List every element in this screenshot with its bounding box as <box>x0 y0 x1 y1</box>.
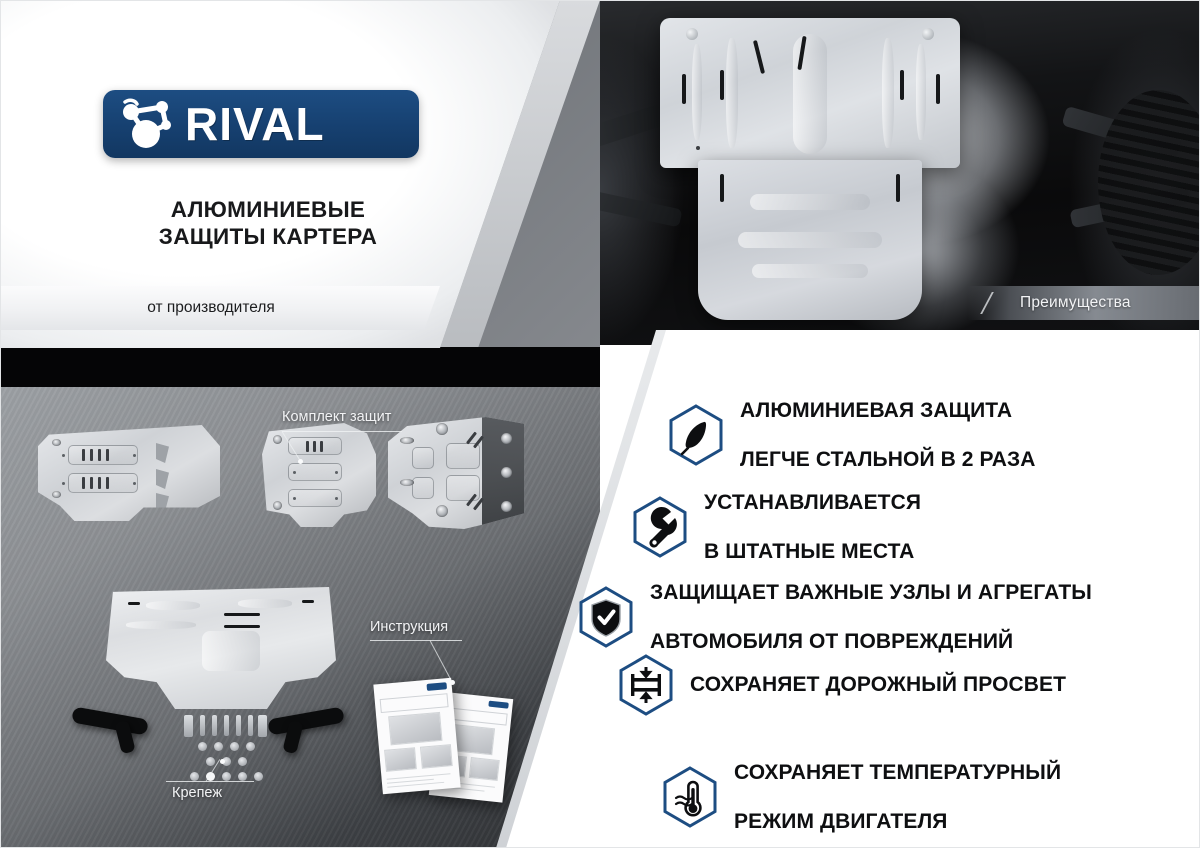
feature-list: АЛЮМИНИЕВАЯ ЗАЩИТА ЛЕГЧЕ СТАЛЬНОЙ В 2 РА… <box>0 0 1200 848</box>
feature-text-4: СОХРАНЯЕТ ДОРОЖНЫЙ ПРОСВЕТ <box>690 648 1066 722</box>
feature-item-5[interactable]: СОХРАНЯЕТ ТЕМПЕРАТУРНЫЙ РЕЖИМ ДВИГАТЕЛЯ <box>662 736 1061 848</box>
shield-check-icon <box>578 586 634 648</box>
feature-1-line1: АЛЮМИНИЕВАЯ ЗАЩИТА <box>740 399 1036 424</box>
feature-text-5: СОХРАНЯЕТ ТЕМПЕРАТУРНЫЙ РЕЖИМ ДВИГАТЕЛЯ <box>734 736 1061 848</box>
thermometer-icon <box>662 766 718 828</box>
feature-2-line1: УСТАНАВЛИВАЕТСЯ <box>704 491 921 516</box>
feature-3-line1: ЗАЩИЩАЕТ ВАЖНЫЕ УЗЛЫ И АГРЕГАТЫ <box>650 581 1092 606</box>
feature-5-line2: РЕЖИМ ДВИГАТЕЛЯ <box>734 810 1061 835</box>
promo-banner: Преимущества RIVAL АЛЮМИНИЕВЫЕ ЗАЩИТЫ КА… <box>0 0 1200 848</box>
feather-icon <box>668 404 724 466</box>
feature-5-line1: СОХРАНЯЕТ ТЕМПЕРАТУРНЫЙ <box>734 761 1061 786</box>
feature-item-4[interactable]: СОХРАНЯЕТ ДОРОЖНЫЙ ПРОСВЕТ <box>618 648 1066 722</box>
wrench-icon <box>632 496 688 558</box>
feature-4-line1: СОХРАНЯЕТ ДОРОЖНЫЙ ПРОСВЕТ <box>690 673 1066 698</box>
ground-clearance-icon <box>618 654 674 716</box>
